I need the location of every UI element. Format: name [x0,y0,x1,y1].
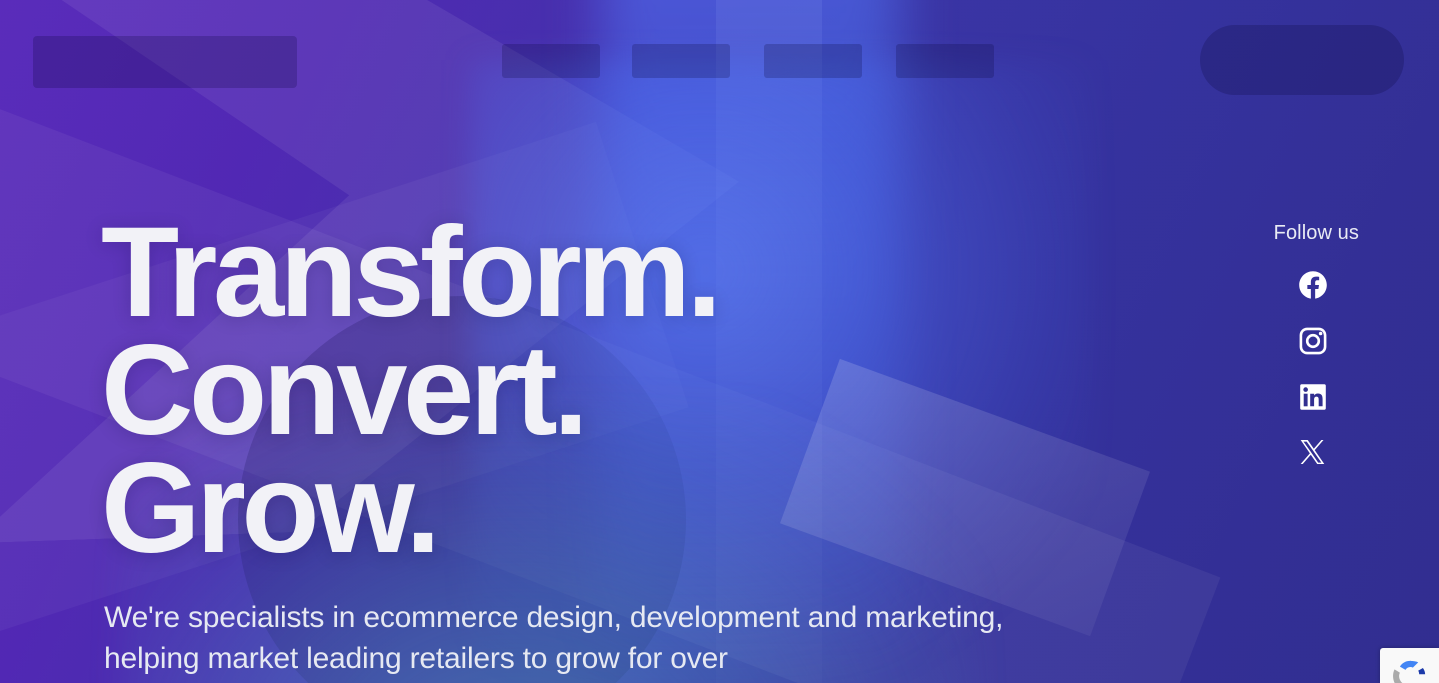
recaptcha-icon [1388,654,1432,683]
facebook-icon [1297,269,1329,301]
headline-line-2: Convert. [101,332,718,450]
hero-subheadline: We're specialists in ecommerce design, d… [104,598,1064,680]
page-root: Transform. Convert. Grow. We're speciali… [0,0,1439,683]
headline-line-3: Grow. [101,450,718,568]
social-link-facebook[interactable] [1297,269,1329,301]
instagram-icon [1297,325,1329,357]
social-link-instagram[interactable] [1297,325,1329,357]
x-twitter-icon [1297,437,1329,467]
hero-headline: Transform. Convert. Grow. [101,214,718,567]
follow-us-label: Follow us [1274,222,1359,245]
linkedin-icon [1297,381,1329,413]
recaptcha-badge[interactable] [1380,648,1439,683]
social-link-linkedin[interactable] [1297,381,1329,413]
hero-section: Transform. Convert. Grow. We're speciali… [0,0,1439,683]
headline-line-1: Transform. [101,214,718,332]
social-follow-panel: Follow us [1274,222,1353,469]
social-link-x-twitter[interactable] [1297,437,1329,469]
